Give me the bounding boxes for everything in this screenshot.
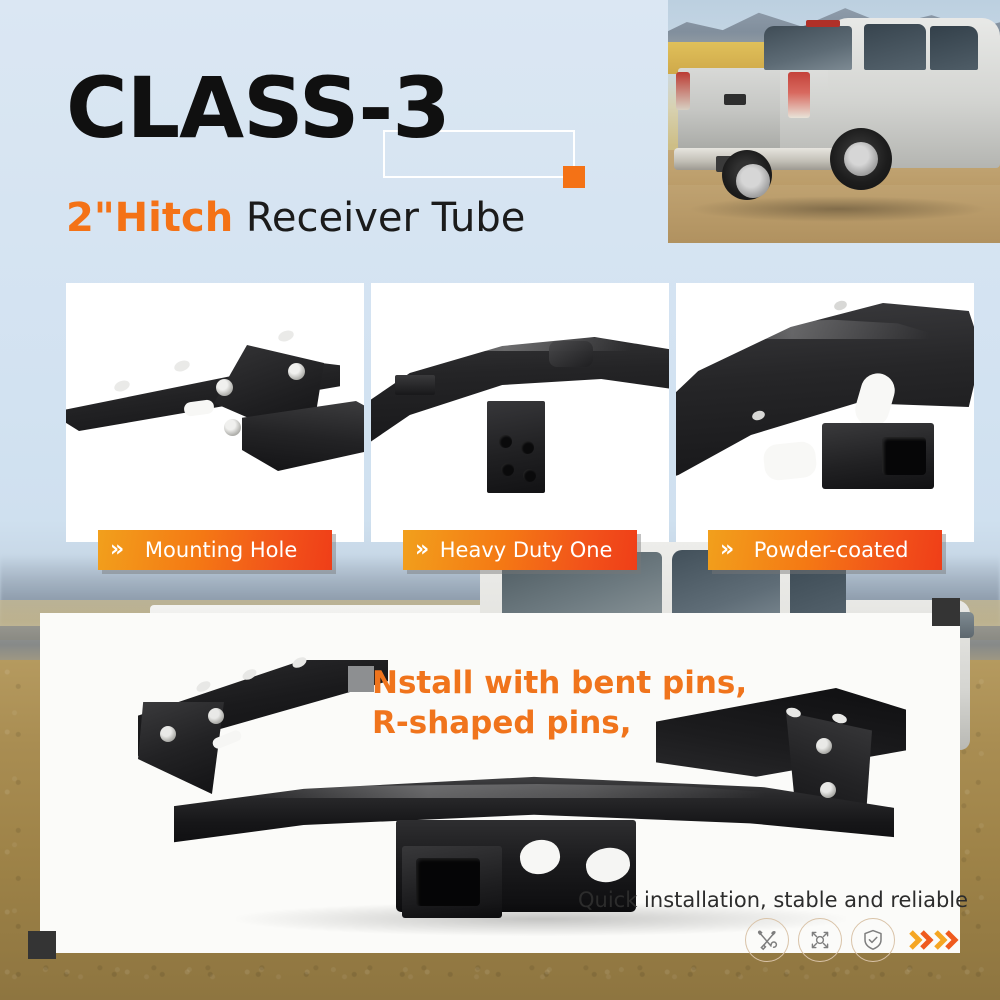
chevron-double-right-icon: » — [415, 539, 429, 561]
feature-icon-row — [745, 918, 961, 962]
page-headline: CLASS-3 — [66, 66, 450, 150]
panel-corner-accent-top-right — [932, 598, 960, 626]
page-subheadline: 2"Hitch Receiver Tube — [66, 198, 525, 238]
feature-banner-label: Heavy Duty One — [429, 538, 637, 562]
subheadline-accent: 2"Hitch — [66, 195, 233, 241]
product-marketing-image: CLASS-3 2"Hitch Receiver Tube — [0, 0, 1000, 1000]
chevron-double-right-icon: » — [110, 539, 124, 561]
feature-banner-label: Powder-coated — [734, 538, 942, 562]
tools-icon — [745, 918, 789, 962]
subheadline-plain: Receiver Tube — [233, 195, 525, 241]
chevron-double-right-icon: » — [720, 539, 734, 561]
shield-check-icon — [851, 918, 895, 962]
feature-banner-heavy-duty: » Heavy Duty One — [403, 530, 637, 570]
main-title-line-1: Nstall with bent pins, — [372, 663, 747, 703]
expand-arrows-icon — [798, 918, 842, 962]
main-title-line-2: R-shaped pins, — [372, 703, 747, 743]
panel-corner-accent-bottom-left — [28, 931, 56, 959]
header-truck-photo — [668, 0, 1000, 243]
headline-orange-square-accent — [563, 166, 585, 188]
main-title: Nstall with bent pins, R-shaped pins, — [372, 663, 747, 744]
chevron-arrows-accent — [907, 925, 961, 955]
feature-banner-mounting-hole: » Mounting Hole — [98, 530, 332, 570]
feature-photo-heavy-duty — [371, 283, 669, 542]
feature-photo-mounting-hole — [66, 283, 364, 542]
feature-photo-powder-coated — [676, 283, 974, 542]
feature-banner-label: Mounting Hole — [124, 538, 332, 562]
feature-banner-powder-coated: » Powder-coated — [708, 530, 942, 570]
main-title-square-accent — [348, 666, 374, 692]
main-subtitle: Quick installation, stable and reliable — [578, 888, 968, 912]
